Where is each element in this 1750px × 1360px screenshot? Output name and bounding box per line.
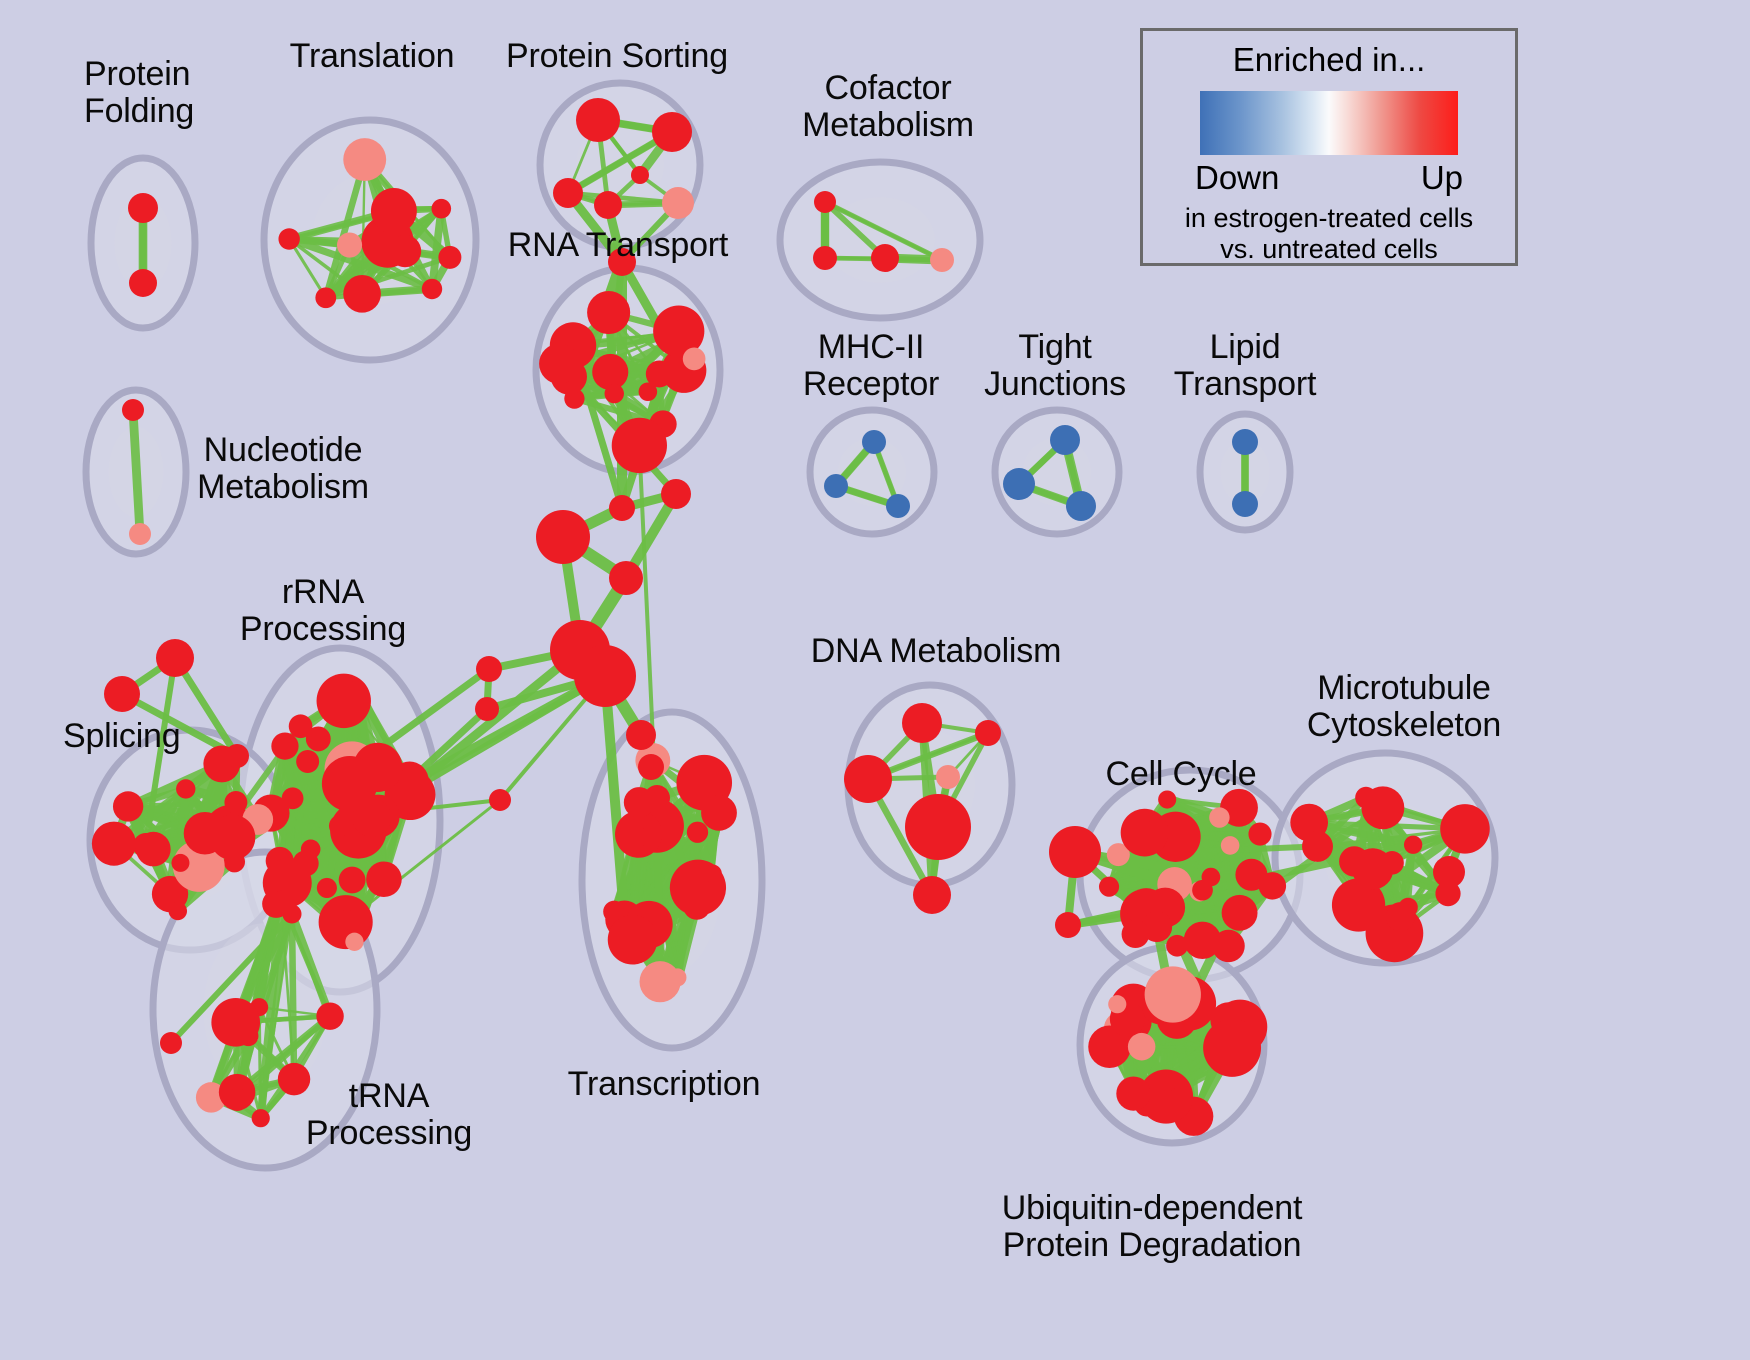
network-node-splicing xyxy=(136,832,171,867)
network-node-microtubule-cytoskeleton xyxy=(1355,787,1377,809)
cluster-label-splicing: Splicing xyxy=(63,718,180,755)
network-node-bridge xyxy=(225,744,249,768)
network-node-ubiquitin-degradation xyxy=(1203,1019,1261,1077)
network-node-translation xyxy=(371,188,417,234)
network-node-cofactor-metabolism xyxy=(813,246,837,270)
network-node-mhc-ii-receptor xyxy=(862,430,886,454)
network-node-protein-folding xyxy=(128,193,158,223)
cluster-label-mhc-ii-receptor: MHC-II Receptor xyxy=(803,329,939,402)
network-node-rrna-processing xyxy=(271,732,298,759)
network-node-ubiquitin-degradation xyxy=(1116,1077,1150,1111)
network-node-splicing xyxy=(184,812,226,854)
network-node-dna-metabolism xyxy=(844,755,892,803)
network-node-cell-cycle xyxy=(1144,821,1162,839)
network-node-cell-cycle xyxy=(1235,859,1267,891)
network-node-translation xyxy=(343,138,386,181)
network-node-rrna-processing xyxy=(306,726,331,751)
network-node-bridge xyxy=(476,656,502,682)
color-scale-bar xyxy=(1200,91,1458,155)
network-node-protein-sorting xyxy=(652,112,692,152)
network-node-dna-metabolism xyxy=(913,876,951,914)
network-node-microtubule-cytoskeleton xyxy=(1302,831,1333,862)
legend-high-label: Up xyxy=(1421,159,1463,197)
network-node-bridge xyxy=(536,510,590,564)
network-node-cell-cycle xyxy=(1209,807,1229,827)
network-node-rna-transport xyxy=(612,418,667,473)
network-node-protein-sorting xyxy=(594,191,622,219)
network-node-rrna-processing xyxy=(282,787,304,809)
network-node-bridge xyxy=(1433,856,1465,888)
network-node-splicing xyxy=(224,791,247,814)
network-node-microtubule-cytoskeleton xyxy=(1386,902,1415,931)
network-node-translation xyxy=(278,228,299,249)
legend-subtitle: in estrogen-treated cells vs. untreated … xyxy=(1143,203,1515,265)
network-node-bridge xyxy=(1049,826,1101,878)
network-node-microtubule-cytoskeleton xyxy=(1352,848,1393,889)
network-node-bridge xyxy=(644,785,670,811)
network-node-rrna-processing xyxy=(345,933,363,951)
network-node-cell-cycle xyxy=(1221,836,1240,855)
network-node-translation xyxy=(438,246,461,269)
cluster-label-protein-sorting: Protein Sorting xyxy=(506,38,728,75)
network-node-ubiquitin-degradation xyxy=(1108,995,1126,1013)
network-node-translation xyxy=(315,287,336,308)
network-node-ubiquitin-degradation xyxy=(1159,1073,1178,1092)
network-node-translation xyxy=(389,235,421,267)
network-node-bridge xyxy=(609,495,635,521)
network-node-bridge xyxy=(661,479,691,509)
cluster-label-trna-processing: tRNA Processing xyxy=(306,1078,472,1151)
cluster-label-translation: Translation xyxy=(290,38,455,75)
network-node-rrna-processing xyxy=(366,861,402,897)
cluster-label-transcription: Transcription xyxy=(568,1066,761,1103)
network-node-cell-cycle xyxy=(1202,868,1221,887)
network-node-protein-sorting xyxy=(662,187,694,219)
network-node-cofactor-metabolism xyxy=(930,248,954,272)
network-node-cell-cycle xyxy=(1099,877,1119,897)
network-node-rrna-processing xyxy=(329,815,351,837)
network-node-trna-processing xyxy=(316,1002,343,1029)
legend-subtitle-line1: in estrogen-treated cells xyxy=(1143,203,1515,234)
network-node-transcription xyxy=(668,968,686,986)
network-node-mhc-ii-receptor xyxy=(886,494,910,518)
network-node-splicing xyxy=(176,779,195,798)
network-node-translation xyxy=(337,232,362,257)
network-node-trna-processing xyxy=(226,1088,249,1111)
network-node-dna-metabolism xyxy=(975,720,1001,746)
network-node-dna-metabolism xyxy=(936,765,960,789)
network-node-rna-transport xyxy=(605,384,624,403)
network-node-transcription xyxy=(704,865,722,883)
network-node-splicing xyxy=(92,822,136,866)
cluster-label-dna-metabolism: DNA Metabolism xyxy=(811,633,1061,670)
network-node-protein-sorting xyxy=(576,98,620,142)
network-node-rrna-processing xyxy=(338,910,357,929)
network-node-ubiquitin-degradation xyxy=(1145,966,1201,1022)
cluster-label-microtubule-cytoskeleton: Microtubule Cytoskeleton xyxy=(1307,670,1501,743)
network-node-bridge xyxy=(609,561,643,595)
network-node-nucleotide-metabolism xyxy=(129,523,151,545)
cluster-label-protein-folding: Protein Folding xyxy=(84,56,194,129)
legend-box: Enriched in... Down Up in estrogen-treat… xyxy=(1140,28,1518,266)
network-node-protein-sorting xyxy=(553,178,583,208)
network-node-microtubule-cytoskeleton xyxy=(1404,836,1422,854)
network-node-transcription xyxy=(608,915,658,965)
cluster-label-ubiquitin-degradation: Ubiquitin-dependent Protein Degradation xyxy=(1002,1190,1303,1263)
network-node-dna-metabolism xyxy=(905,794,971,860)
legend-endpoints: Down Up xyxy=(1195,159,1463,197)
network-node-bridge xyxy=(574,645,636,707)
network-node-tight-junctions xyxy=(1066,491,1096,521)
cluster-label-cofactor-metabolism: Cofactor Metabolism xyxy=(802,70,974,143)
network-node-cell-cycle xyxy=(1158,790,1176,808)
network-node-ubiquitin-degradation xyxy=(1128,1033,1156,1061)
network-node-cofactor-metabolism xyxy=(871,244,899,272)
network-node-rrna-processing xyxy=(317,878,337,898)
network-node-rna-transport xyxy=(539,344,579,384)
network-node-lipid-transport xyxy=(1232,491,1258,517)
network-node-tight-junctions xyxy=(1003,468,1035,500)
network-node-bridge xyxy=(1055,912,1081,938)
network-node-rrna-processing xyxy=(322,756,377,811)
network-node-trna-processing xyxy=(252,1109,270,1127)
network-node-bridge xyxy=(156,639,194,677)
cluster-label-rrna-processing: rRNA Processing xyxy=(240,574,406,647)
network-node-splicing xyxy=(113,791,143,821)
legend-title: Enriched in... xyxy=(1143,41,1515,79)
network-node-bridge xyxy=(626,720,656,750)
network-node-translation xyxy=(343,275,381,313)
network-node-splicing xyxy=(171,854,189,872)
network-node-rrna-processing xyxy=(348,680,367,699)
network-node-lipid-transport xyxy=(1232,429,1258,455)
network-node-protein-sorting xyxy=(631,166,649,184)
cluster-label-cell-cycle: Cell Cycle xyxy=(1105,756,1256,793)
network-node-transcription xyxy=(701,795,737,831)
network-node-bridge xyxy=(475,697,499,721)
network-node-protein-folding xyxy=(129,269,157,297)
network-node-trna-processing xyxy=(272,891,290,909)
network-node-trna-processing xyxy=(211,998,260,1047)
network-node-mhc-ii-receptor xyxy=(824,474,848,498)
network-node-bridge xyxy=(489,789,511,811)
cluster-label-rna-transport: RNA Transport xyxy=(508,227,728,264)
network-node-cell-cycle xyxy=(1122,920,1150,948)
network-node-bridge xyxy=(160,1032,182,1054)
network-node-rrna-processing xyxy=(296,750,319,773)
cluster-label-tight-junctions: Tight Junctions xyxy=(984,329,1126,402)
network-node-bridge xyxy=(104,676,140,712)
network-node-dna-metabolism xyxy=(902,703,942,743)
cluster-label-lipid-transport: Lipid Transport xyxy=(1174,329,1316,402)
network-node-splicing xyxy=(169,902,187,920)
network-node-transcription xyxy=(687,822,708,843)
network-node-transcription xyxy=(638,828,657,847)
network-node-bridge xyxy=(638,754,664,780)
network-node-rna-transport xyxy=(587,291,630,334)
network-figure: Protein FoldingTranslationProtein Sortin… xyxy=(0,0,1750,1360)
legend-subtitle-line2: vs. untreated cells xyxy=(1143,234,1515,265)
network-node-cell-cycle xyxy=(1222,895,1258,931)
cluster-label-nucleotide-metabolism: Nucleotide Metabolism xyxy=(197,432,369,505)
network-node-translation xyxy=(431,199,451,219)
network-node-cell-cycle xyxy=(1248,822,1271,845)
legend-low-label: Down xyxy=(1195,159,1279,197)
network-node-translation xyxy=(422,279,442,299)
network-node-nucleotide-metabolism xyxy=(122,399,144,421)
network-node-rna-transport xyxy=(683,348,706,371)
network-node-cofactor-metabolism xyxy=(814,191,836,213)
network-node-rna-transport xyxy=(639,382,658,401)
network-node-rrna-processing xyxy=(339,867,366,894)
network-node-rna-transport xyxy=(669,318,703,352)
network-node-rna-transport xyxy=(592,354,628,390)
network-node-microtubule-cytoskeleton xyxy=(1440,804,1490,854)
network-node-cell-cycle xyxy=(1212,930,1245,963)
network-node-tight-junctions xyxy=(1050,425,1080,455)
